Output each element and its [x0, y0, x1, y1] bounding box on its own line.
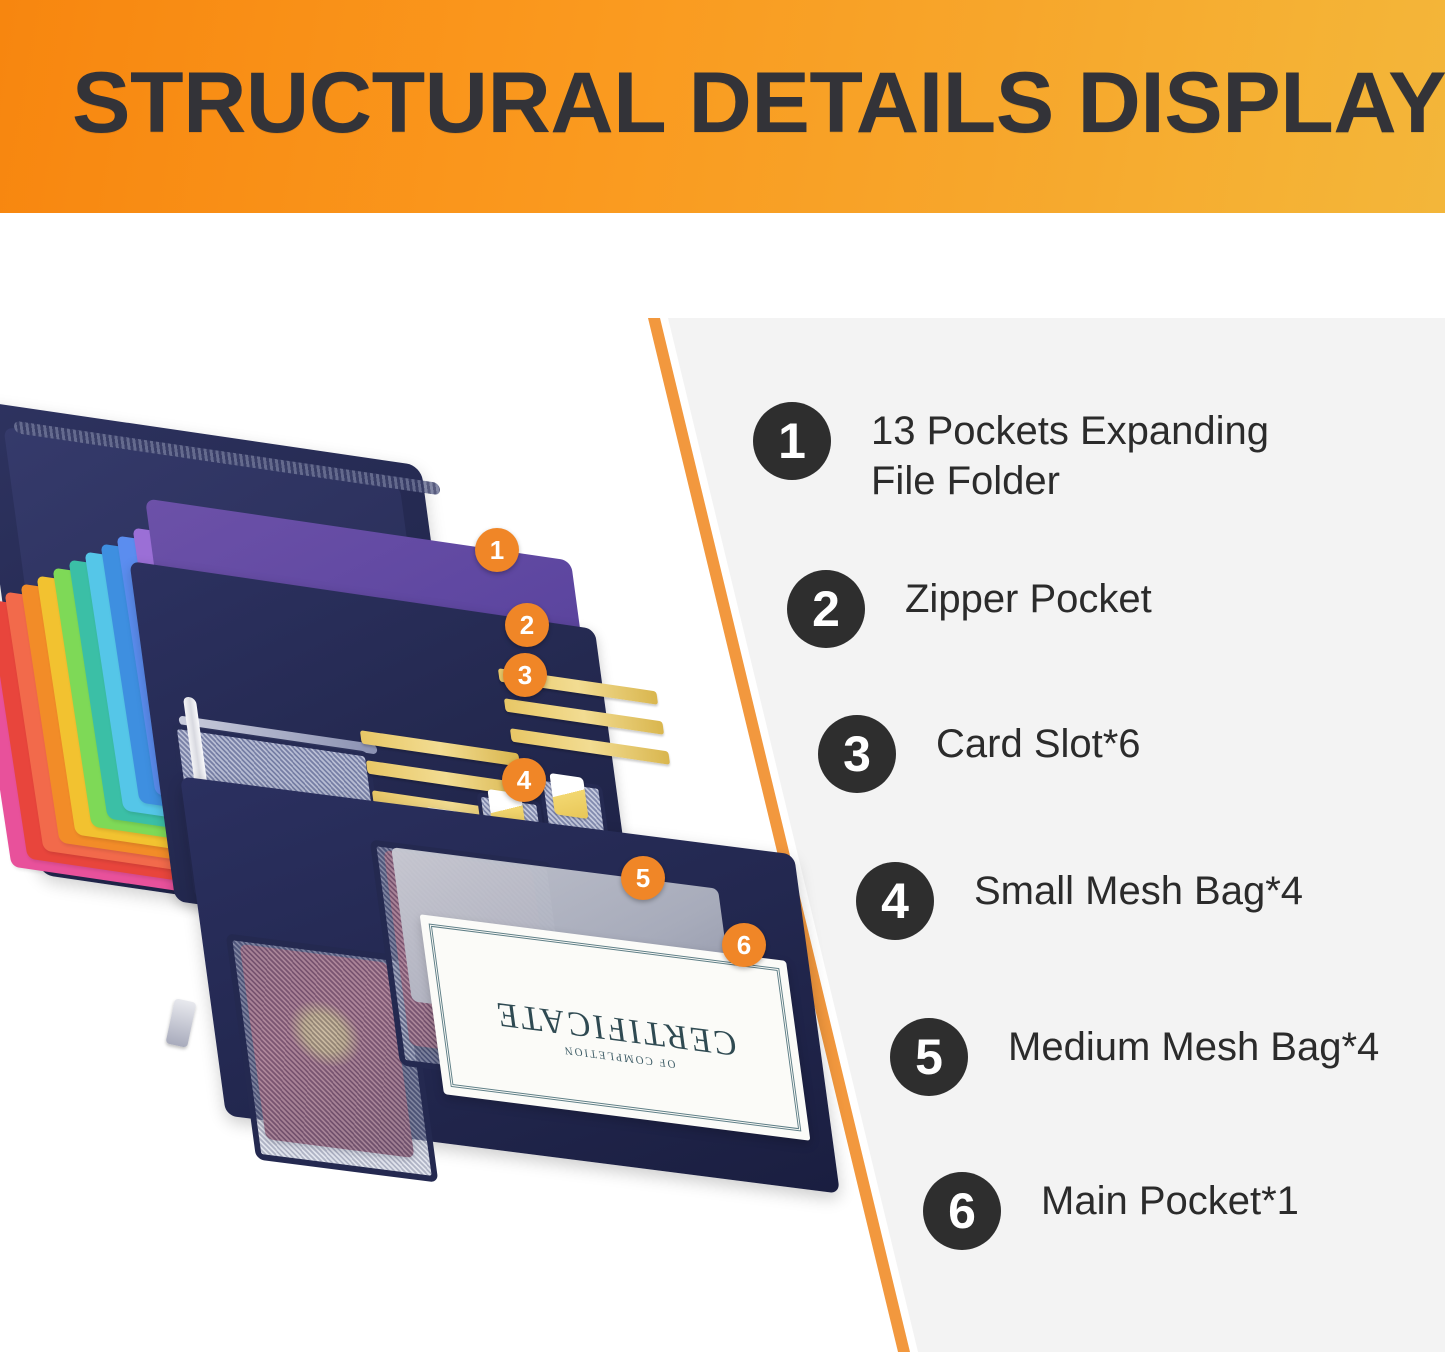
header-banner: STRUCTURAL DETAILS DISPLAY [0, 0, 1445, 213]
photo-marker-5: 5 [621, 856, 665, 900]
feature-number-badge: 3 [818, 715, 896, 793]
photo-marker-3: 3 [503, 653, 547, 697]
feature-item-2[interactable]: 2 Zipper Pocket [787, 570, 1152, 648]
card-slot [504, 698, 664, 735]
card-slot [510, 728, 670, 765]
feature-number-badge: 2 [787, 570, 865, 648]
feature-label: Main Pocket*1 [1041, 1172, 1299, 1226]
feature-label: Card Slot*6 [936, 715, 1141, 769]
feature-label: Small Mesh Bag*4 [974, 862, 1303, 916]
product-photo: CERTIFICATE OF COMPLETION 1 2 3 4 5 6 [0, 400, 830, 1230]
feature-number-badge: 5 [890, 1018, 968, 1096]
feature-item-1[interactable]: 1 13 Pockets Expanding File Folder [753, 402, 1269, 506]
page-title: STRUCTURAL DETAILS DISPLAY [72, 60, 1445, 146]
feature-item-6[interactable]: 6 Main Pocket*1 [923, 1172, 1299, 1250]
photo-marker-4: 4 [502, 758, 546, 802]
photo-marker-2: 2 [505, 603, 549, 647]
feature-number-badge: 6 [923, 1172, 1001, 1250]
feature-number-badge: 1 [753, 402, 831, 480]
feature-item-4[interactable]: 4 Small Mesh Bag*4 [856, 862, 1303, 940]
feature-item-3[interactable]: 3 Card Slot*6 [818, 715, 1141, 793]
feature-item-5[interactable]: 5 Medium Mesh Bag*4 [890, 1018, 1379, 1096]
photo-marker-1: 1 [475, 528, 519, 572]
zipper-pull-lower [165, 998, 196, 1048]
feature-label: 13 Pockets Expanding File Folder [871, 402, 1269, 506]
small-mesh-card [549, 773, 588, 819]
feature-label: Medium Mesh Bag*4 [1008, 1018, 1379, 1072]
feature-number-badge: 4 [856, 862, 934, 940]
feature-label: Zipper Pocket [905, 570, 1152, 624]
photo-marker-6: 6 [722, 923, 766, 967]
card-slot [360, 730, 520, 767]
